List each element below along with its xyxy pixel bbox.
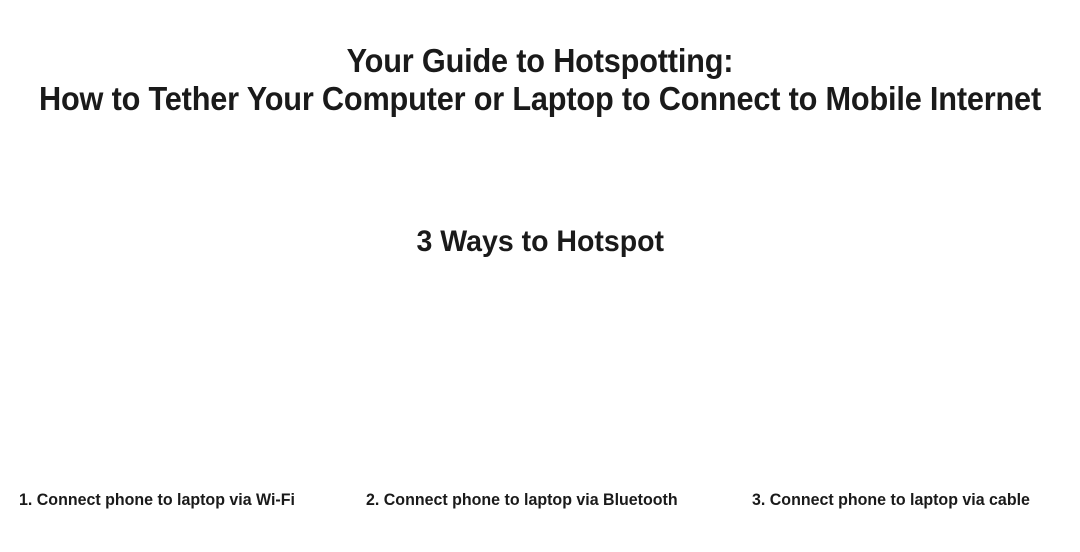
illustration-cell-wifi <box>0 282 360 474</box>
illustration-cell-bluetooth <box>360 282 720 474</box>
page-title: Your Guide to Hotspotting: How to Tether… <box>0 42 1080 118</box>
caption-label-cable: 3. Connect phone to laptop via cable <box>752 488 1030 512</box>
caption-label-bluetooth: 2. Connect phone to laptop via Bluetooth <box>366 488 678 512</box>
caption-cell-cable: 3. Connect phone to laptop via cable <box>697 488 1080 512</box>
illustration-cell-cable <box>720 282 1080 474</box>
caption-cell-wifi: 1. Connect phone to laptop via Wi-Fi <box>0 488 347 512</box>
page-title-line-1: Your Guide to Hotspotting: <box>38 42 1042 80</box>
section-heading-label: 3 Ways to Hotspot <box>416 222 664 262</box>
section-heading: 3 Ways to Hotspot <box>0 222 1080 262</box>
caption-row: 1. Connect phone to laptop via Wi-Fi 2. … <box>0 488 1080 512</box>
caption-cell-bluetooth: 2. Connect phone to laptop via Bluetooth <box>347 488 698 512</box>
page-title-line-2: How to Tether Your Computer or Laptop to… <box>38 80 1042 118</box>
illustration-image-cable <box>720 282 1080 474</box>
illustration-image-bluetooth <box>360 282 720 474</box>
illustration-row <box>0 282 1080 474</box>
caption-label-wifi: 1. Connect phone to laptop via Wi-Fi <box>19 488 295 512</box>
illustration-image-wifi <box>0 282 360 474</box>
article-page: Your Guide to Hotspotting: How to Tether… <box>0 0 1080 552</box>
